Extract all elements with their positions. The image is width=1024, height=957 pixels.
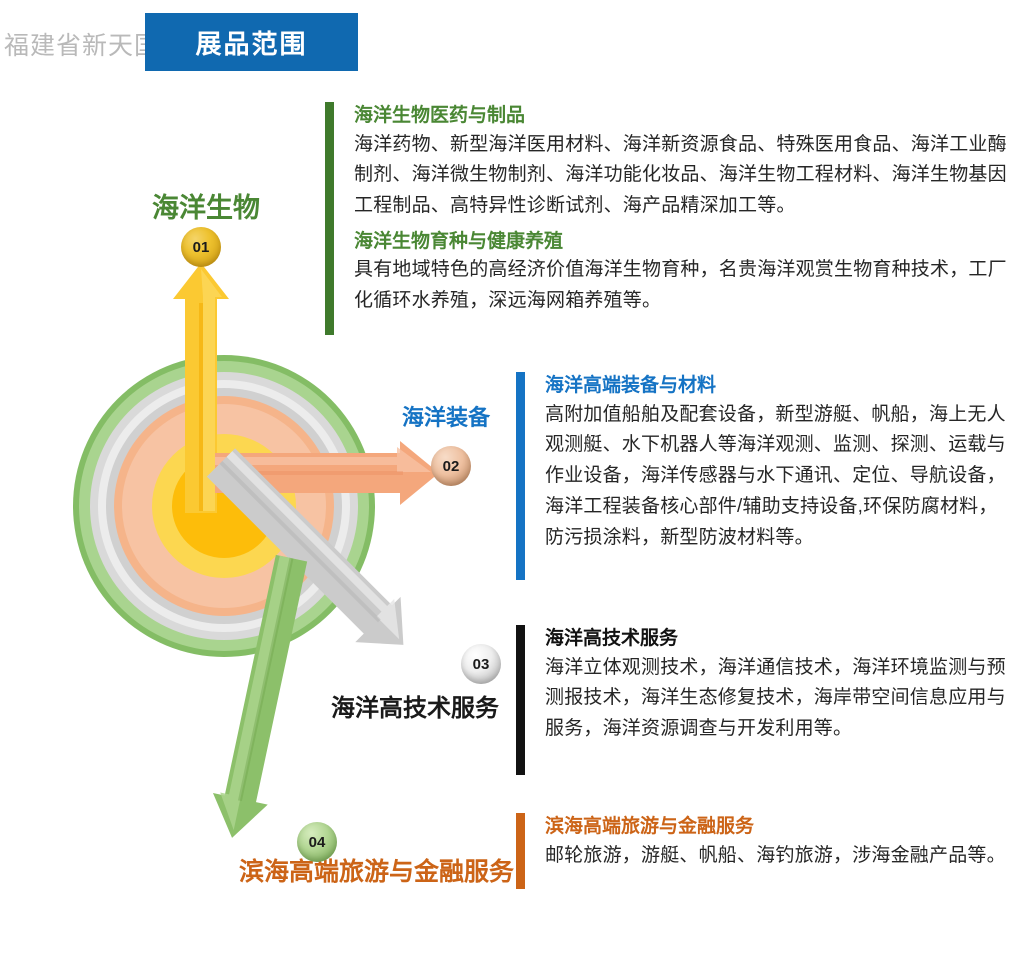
infographic-canvas: 福建省新天国际展览有限公司 展品范围 [0,0,1024,957]
panel-marine-equipment: 海洋高端装备与材料 高附加值船舶及配套设备，新型游艇、帆船，海上无人观测艇、水下… [516,372,1016,580]
panel-accent-bar [516,625,525,775]
panel-accent-bar [325,102,334,335]
panel-coastal-tourism-finance: 滨海高端旅游与金融服务 邮轮旅游，游艇、帆船、海钓旅游，涉海金融产品等。 [516,813,1016,889]
panel-marine-biology: 海洋生物医药与制品 海洋药物、新型海洋医用材料、海洋新资源食品、特殊医用食品、海… [325,102,1017,335]
panel-high-tech-services: 海洋高技术服务 海洋立体观测技术，海洋通信技术，海洋环境监测与预测报技术，海洋生… [516,625,1016,775]
panel-accent-bar [516,813,525,889]
title-banner: 展品范围 [145,13,358,71]
node-label-02: 海洋装备 [402,400,490,432]
section-body: 海洋立体观测技术，海洋通信技术，海洋环境监测与预测报技术，海洋生态修复技术，海岸… [545,653,1016,745]
node-label-03: 海洋高技术服务 [331,688,499,723]
node-badge-01[interactable]: 01 [181,227,221,267]
section-body: 海洋药物、新型海洋医用材料、海洋新资源食品、特殊医用食品、海洋工业酶制剂、海洋微… [354,130,1017,222]
section-body: 高附加值船舶及配套设备，新型游艇、帆船，海上无人观测艇、水下机器人等海洋观测、监… [545,400,1016,554]
node-badge-04[interactable]: 04 [297,822,337,862]
node-badge-02[interactable]: 02 [431,446,471,486]
page-title: 展品范围 [145,13,358,71]
section-heading: 滨海高端旅游与金融服务 [545,813,1006,841]
node-label-04: 滨海高端旅游与金融服务 [239,852,514,888]
section-heading: 海洋生物医药与制品 [354,102,1017,130]
panel-body: 海洋高端装备与材料 高附加值船舶及配套设备，新型游艇、帆船，海上无人观测艇、水下… [525,372,1016,580]
panel-body: 滨海高端旅游与金融服务 邮轮旅游，游艇、帆船、海钓旅游，涉海金融产品等。 [525,813,1006,889]
panel-accent-bar [516,372,525,580]
section-heading: 海洋生物育种与健康养殖 [354,228,1017,256]
section-body: 邮轮旅游，游艇、帆船、海钓旅游，涉海金融产品等。 [545,841,1006,872]
node-label-01: 海洋生物 [152,186,260,225]
section-heading: 海洋高技术服务 [545,625,1016,653]
node-badge-03[interactable]: 03 [461,644,501,684]
section-body: 具有地域特色的高经济价值海洋生物育种，名贵海洋观赏生物育种技术，工厂化循环水养殖… [354,255,1017,317]
panel-body: 海洋生物医药与制品 海洋药物、新型海洋医用材料、海洋新资源食品、特殊医用食品、海… [334,102,1017,335]
section-heading: 海洋高端装备与材料 [545,372,1016,400]
panel-body: 海洋高技术服务 海洋立体观测技术，海洋通信技术，海洋环境监测与预测报技术，海洋生… [525,625,1016,775]
